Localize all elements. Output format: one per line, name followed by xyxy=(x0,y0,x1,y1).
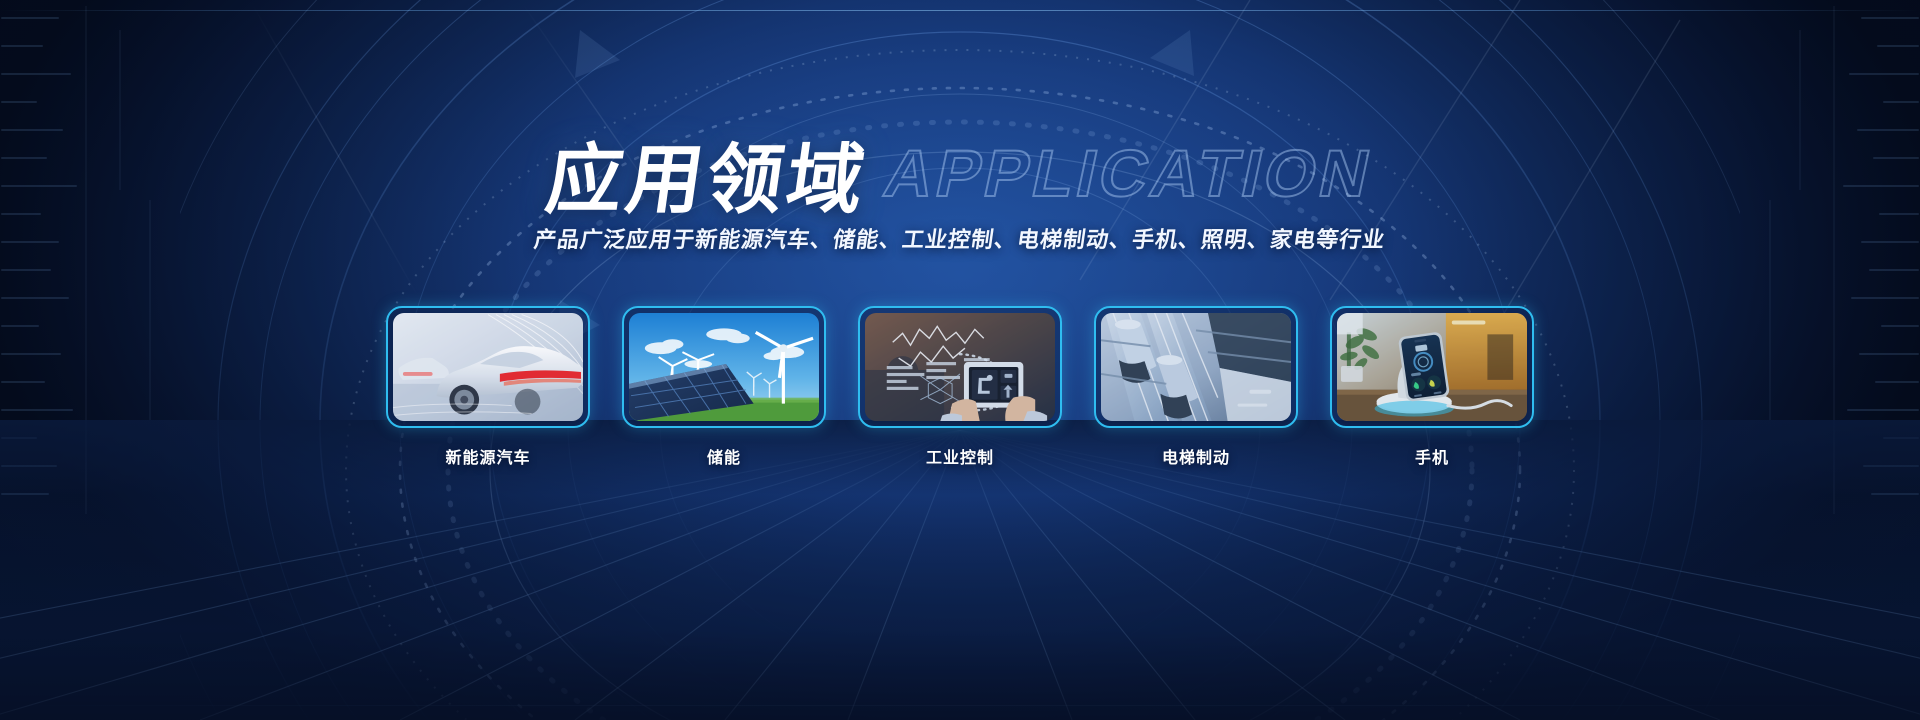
perspective-grid-floor xyxy=(0,430,1920,720)
card-thumbnail-elevator-shaft xyxy=(1101,313,1291,421)
headline-block: 应用领域APPLICATION xyxy=(0,118,1920,228)
application-card-row: 新能源汽车 xyxy=(0,306,1920,468)
application-card-elevator-braking[interactable]: 电梯制动 xyxy=(1094,306,1298,468)
page-title: 应用领域 xyxy=(540,118,875,228)
card-thumbnail-solar-wind xyxy=(629,313,819,421)
card-label: 新能源汽车 xyxy=(386,444,590,468)
card-thumbnail-sports-car xyxy=(393,313,583,421)
card-thumbnail-phone-charger xyxy=(1337,313,1527,421)
page-title-english: APPLICATION xyxy=(878,135,1381,211)
card-label: 手机 xyxy=(1330,444,1534,468)
card-frame xyxy=(1330,306,1534,428)
card-thumbnail-industrial-tablet xyxy=(865,313,1055,421)
headline: 应用领域APPLICATION xyxy=(548,118,1372,228)
card-label: 储能 xyxy=(622,444,826,468)
application-card-industrial-control[interactable]: 工业控制 xyxy=(858,306,1062,468)
application-card-energy-storage[interactable]: 储能 xyxy=(622,306,826,468)
card-frame xyxy=(386,306,590,428)
card-label: 工业控制 xyxy=(858,444,1062,468)
top-scan-line xyxy=(0,10,1920,11)
page-subtitle: 产品广泛应用于新能源汽车、储能、工业控制、电梯制动、手机、照明、家电等行业 xyxy=(0,222,1920,254)
application-card-mobile-phone[interactable]: 手机 xyxy=(1330,306,1534,468)
card-label: 电梯制动 xyxy=(1094,444,1298,468)
card-frame xyxy=(858,306,1062,428)
card-frame xyxy=(1094,306,1298,428)
application-card-new-energy-vehicle[interactable]: 新能源汽车 xyxy=(386,306,590,468)
bottom-scan-line xyxy=(0,705,1920,706)
application-banner: 应用领域APPLICATION 产品广泛应用于新能源汽车、储能、工业控制、电梯制… xyxy=(0,0,1920,720)
card-frame xyxy=(622,306,826,428)
